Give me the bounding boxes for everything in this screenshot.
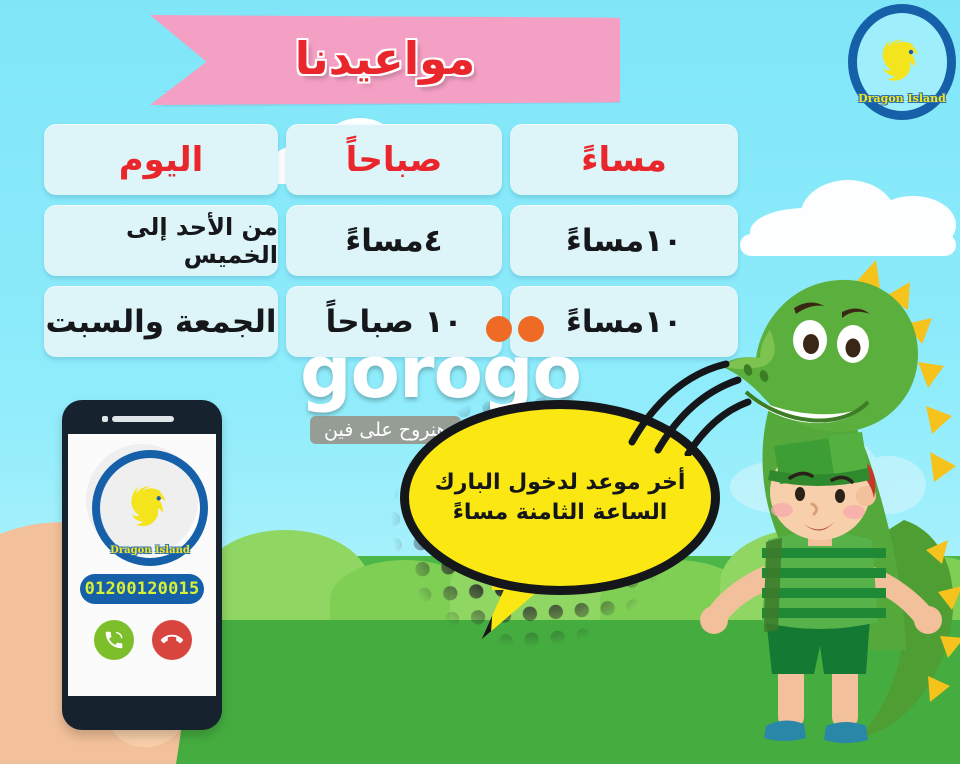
header-morning-label: صباحاً	[346, 140, 443, 180]
motion-lines-icon	[622, 356, 762, 456]
table-header-row: مساءً صباحاً اليوم	[38, 124, 738, 195]
row1-day-value: من الأحد إلى الخميس	[44, 213, 278, 269]
watermark-dot	[486, 316, 512, 342]
answer-call-button[interactable]	[94, 620, 134, 660]
row1-morning-value: ٤مساءً	[345, 223, 442, 259]
row2-day: الجمعة والسبت	[44, 286, 278, 357]
logo-ring: Dragon Island	[848, 4, 956, 120]
phone-decline-icon	[161, 629, 183, 651]
row2-day-value: الجمعة والسبت	[45, 304, 276, 340]
header-day: اليوم	[44, 124, 278, 195]
phone-device: Dragon Island 01200120015	[62, 400, 222, 730]
decline-call-button[interactable]	[152, 620, 192, 660]
phone-camera	[102, 416, 108, 422]
phone-answer-icon	[103, 629, 125, 651]
dragon-head-icon	[870, 30, 934, 94]
phone-logo-wordmark: Dragon Island	[100, 545, 200, 556]
header-evening-label: مساءً	[581, 140, 667, 180]
boy-character	[700, 430, 950, 764]
poster-canvas: مواعيدنا Dragon Island	[0, 0, 960, 764]
header-evening: مساءً	[510, 124, 738, 195]
row1-evening-value: ١٠مساءً	[566, 223, 682, 259]
phone-number: 01200120015	[85, 579, 200, 599]
phone-number-pill: 01200120015	[80, 574, 204, 604]
row1-day: من الأحد إلى الخميس	[44, 205, 278, 276]
notice-line-1: أخر موعد لدخول البارك	[435, 468, 686, 498]
title-ribbon: مواعيدنا	[150, 15, 620, 105]
phone-logo-ring: Dragon Island	[92, 450, 208, 566]
notice-speech-bubble: أخر موعد لدخول البارك الساعة الثامنة مسا…	[400, 400, 720, 630]
header-day-label: اليوم	[119, 140, 204, 180]
phone-screen: Dragon Island 01200120015	[68, 434, 216, 696]
row1-evening: ١٠مساءً	[510, 205, 738, 276]
logo-wordmark: Dragon Island	[857, 92, 947, 105]
dragon-head-icon	[119, 477, 181, 539]
brand-logo: Dragon Island	[848, 8, 956, 116]
header-morning: صباحاً	[286, 124, 502, 195]
notice-line-2: الساعة الثامنة مساءً	[453, 498, 668, 528]
page-title: مواعيدنا	[150, 15, 620, 105]
phone-speaker	[112, 416, 174, 422]
row1-morning: ٤مساءً	[286, 205, 502, 276]
watermark-dot	[518, 316, 544, 342]
table-row: ١٠مساءً ٤مساءً من الأحد إلى الخميس	[38, 205, 738, 276]
phone-brand-logo: Dragon Island	[86, 444, 198, 556]
